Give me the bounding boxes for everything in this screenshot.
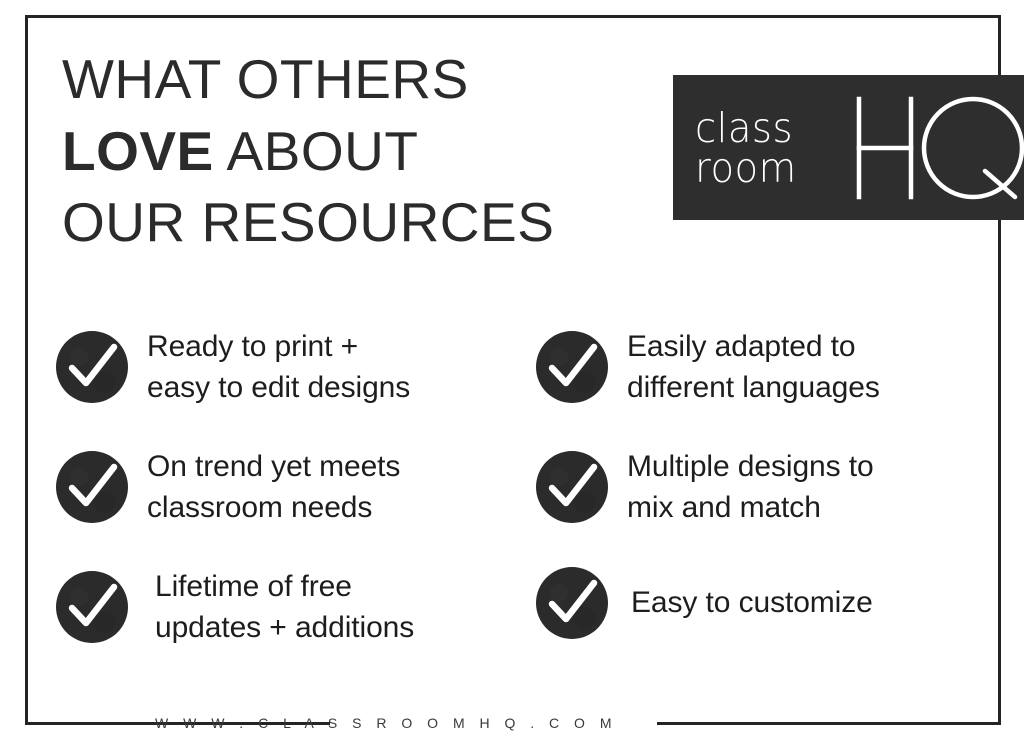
headline-line-2: LOVE ABOUT xyxy=(62,116,662,188)
list-item-label: Easily adapted to different languages xyxy=(627,326,880,409)
footer-rule-right xyxy=(657,722,957,725)
headline-emphasis: LOVE xyxy=(62,120,214,182)
list-item-label: Lifetime of free updates + additions xyxy=(155,566,414,649)
logo-word-room: room xyxy=(695,149,797,189)
logo-monogram-hq xyxy=(849,85,1024,211)
list-item-line: Ready to print + xyxy=(147,326,410,367)
list-item-label: Ready to print + easy to edit designs xyxy=(147,326,410,409)
list-item: Lifetime of free updates + additions xyxy=(55,566,525,649)
list-item: On trend yet meets classroom needs xyxy=(55,446,525,529)
footer-website-url: W W W . C L A S S R O O M H Q . C O M xyxy=(155,715,617,731)
headline-line-1: WHAT OTHERS xyxy=(62,44,662,116)
logo-inner: class room xyxy=(695,91,1015,203)
headline-line-3: OUR RESOURCES xyxy=(62,187,662,259)
list-item-line: classroom needs xyxy=(147,487,400,528)
footer: W W W . C L A S S R O O M H Q . C O M xyxy=(0,705,1024,741)
list-item-line: Multiple designs to xyxy=(627,446,874,487)
list-item-line: easy to edit designs xyxy=(147,367,410,408)
list-item: Easy to customize xyxy=(535,566,1005,640)
list-item-line: Easily adapted to xyxy=(627,326,880,367)
check-circle-icon xyxy=(535,566,609,640)
list-item-label: On trend yet meets classroom needs xyxy=(147,446,400,529)
benefits-list: Ready to print + easy to edit designs On… xyxy=(55,322,1000,667)
check-circle-icon xyxy=(535,330,609,404)
logo-wordmark: class room xyxy=(695,105,803,189)
list-item: Multiple designs to mix and match xyxy=(535,446,1005,529)
check-circle-icon xyxy=(55,570,129,644)
check-circle-icon xyxy=(535,450,609,524)
headline-line-2-rest: ABOUT xyxy=(214,120,419,182)
list-item-line: Lifetime of free xyxy=(155,566,414,607)
brand-logo: class room xyxy=(673,75,1024,220)
check-circle-icon xyxy=(55,450,129,524)
check-circle-icon xyxy=(55,330,129,404)
footer-rule-left xyxy=(67,722,115,725)
list-item: Ready to print + easy to edit designs xyxy=(55,326,525,409)
list-item-line: mix and match xyxy=(627,487,874,528)
page-title: WHAT OTHERS LOVE ABOUT OUR RESOURCES xyxy=(62,44,662,259)
list-item: Easily adapted to different languages xyxy=(535,326,1005,409)
list-item-label: Multiple designs to mix and match xyxy=(627,446,874,529)
list-item-line: Easy to customize xyxy=(631,582,873,623)
list-item-line: different languages xyxy=(627,367,880,408)
list-item-line: On trend yet meets xyxy=(147,446,400,487)
list-item-label: Easy to customize xyxy=(631,582,873,623)
list-item-line: updates + additions xyxy=(155,607,414,648)
